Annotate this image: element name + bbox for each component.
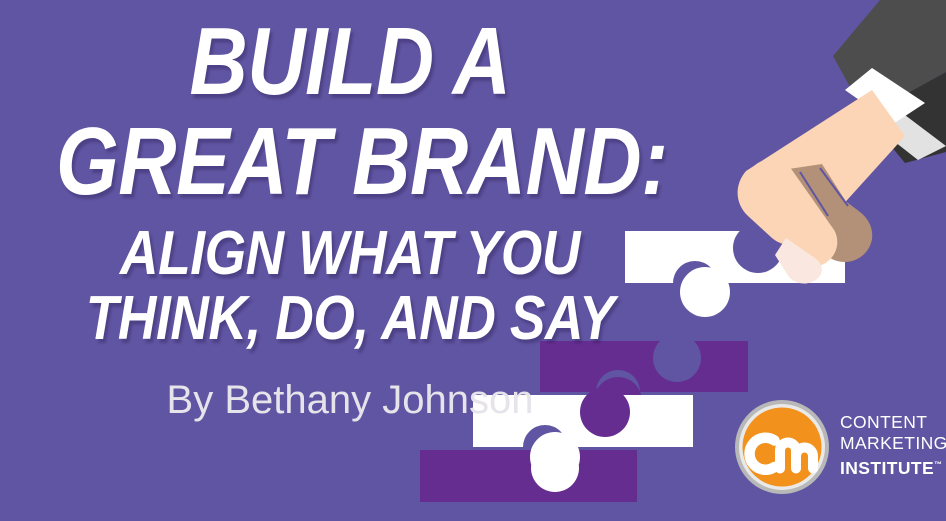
- headline-line-1: BUILD A: [56, 14, 644, 110]
- trademark-symbol: ™: [934, 460, 942, 469]
- logo-institute-text: INSTITUTE: [840, 458, 934, 478]
- headline-line-3: ALIGN WHAT YOU: [49, 222, 651, 286]
- headline-line-2: GREAT BRAND:: [56, 114, 644, 210]
- headline-line-4: THINK, DO, AND SAY: [49, 287, 651, 351]
- headline-block: BUILD A GREAT BRAND: ALIGN WHAT YOU THIN…: [0, 14, 700, 351]
- banner-canvas: BUILD A GREAT BRAND: ALIGN WHAT YOU THIN…: [0, 0, 946, 521]
- byline: By Bethany Johnson: [0, 378, 700, 422]
- cmi-logo[interactable]: CONTENT MARKETING INSTITUTE™: [733, 398, 938, 498]
- cmi-logo-wordmark: CONTENT MARKETING INSTITUTE™: [840, 412, 946, 479]
- logo-line-institute: INSTITUTE™: [840, 454, 946, 479]
- logo-line-content: CONTENT: [840, 412, 946, 433]
- logo-line-marketing: MARKETING: [840, 433, 946, 454]
- cmi-logo-mark: [733, 398, 831, 496]
